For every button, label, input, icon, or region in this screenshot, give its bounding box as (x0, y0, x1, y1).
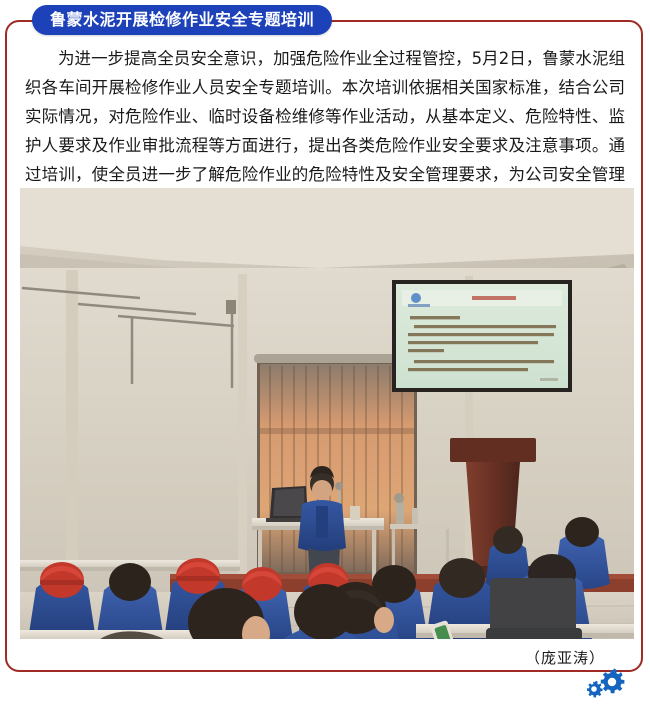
training-room-photo (20, 188, 634, 639)
article-title-badge: 鲁蒙水泥开展检修作业安全专题培训 (32, 5, 332, 35)
training-room-photo-illustration (20, 188, 634, 639)
author-signature: （庞亚涛） (525, 647, 605, 668)
gears-icon (583, 668, 627, 700)
article-card: 为进一步提高全员安全意识，加强危险作业全过程管控，5月2日，鲁蒙水泥组织各车间开… (5, 20, 643, 672)
article-title-text: 鲁蒙水泥开展检修作业安全专题培训 (50, 12, 314, 28)
